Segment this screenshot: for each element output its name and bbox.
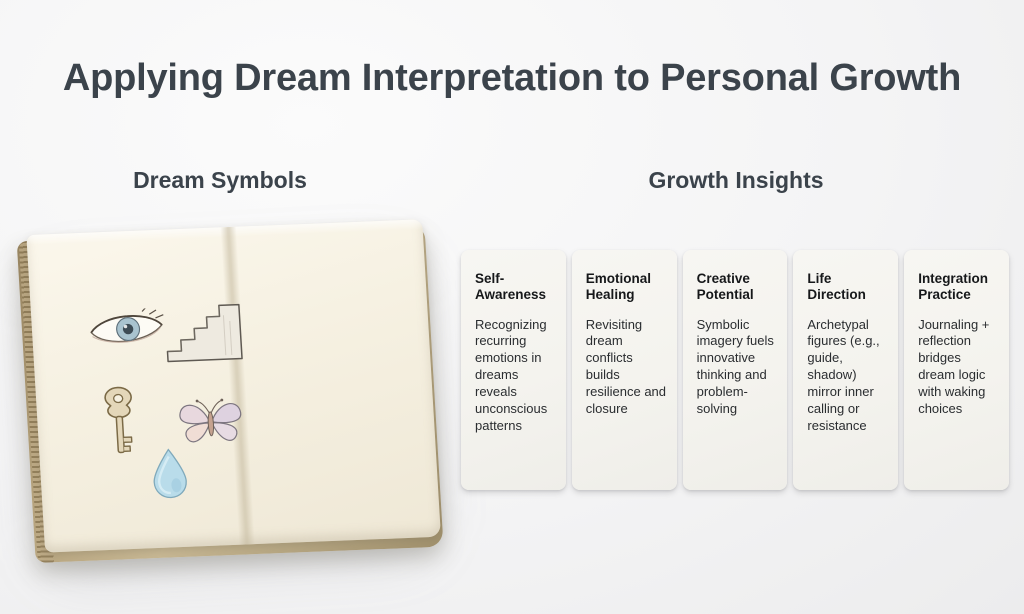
eye-symbol bbox=[87, 308, 167, 351]
growth-insight-card[interactable]: Creative Potential Symbolic imagery fuel… bbox=[683, 250, 788, 490]
growth-insight-card[interactable]: Integration Practice Journaling + reflec… bbox=[904, 250, 1009, 490]
notebook-gutter bbox=[220, 227, 255, 545]
growth-insight-card-list: Self-Awareness Recognizing recurring emo… bbox=[461, 250, 1009, 490]
card-title: Integration Practice bbox=[918, 271, 999, 303]
growth-insight-card[interactable]: Emotional Healing Revisiting dream confl… bbox=[572, 250, 677, 490]
card-title: Creative Potential bbox=[697, 271, 778, 303]
slide-canvas: Applying Dream Interpretation to Persona… bbox=[0, 0, 1024, 614]
growth-insight-card[interactable]: Self-Awareness Recognizing recurring emo… bbox=[461, 250, 566, 490]
card-title: Emotional Healing bbox=[586, 271, 667, 303]
teardrop-symbol bbox=[149, 447, 190, 500]
card-body: Archetypal figures (e.g., guide, shadow)… bbox=[807, 317, 888, 435]
section-heading-dream-symbols: Dream Symbols bbox=[0, 167, 440, 194]
card-body: Recognizing recurring emotions in dreams… bbox=[475, 317, 556, 435]
card-body: Journaling + reflection bridges dream lo… bbox=[918, 317, 999, 418]
growth-insight-card[interactable]: Life Direction Archetypal figures (e.g.,… bbox=[793, 250, 898, 490]
card-body: Symbolic imagery fuels innovative thinki… bbox=[697, 317, 778, 418]
butterfly-symbol bbox=[176, 395, 245, 450]
card-title: Life Direction bbox=[807, 271, 888, 303]
notebook-body bbox=[16, 219, 445, 565]
section-heading-growth-insights: Growth Insights bbox=[460, 167, 1012, 194]
key-symbol bbox=[97, 381, 142, 460]
card-body: Revisiting dream conflicts builds resili… bbox=[586, 317, 667, 418]
staircase-symbol bbox=[163, 303, 245, 370]
notebook-pages bbox=[26, 219, 441, 552]
page-title: Applying Dream Interpretation to Persona… bbox=[0, 57, 1024, 100]
card-title: Self-Awareness bbox=[475, 271, 556, 303]
dream-journal-illustration bbox=[8, 205, 448, 587]
